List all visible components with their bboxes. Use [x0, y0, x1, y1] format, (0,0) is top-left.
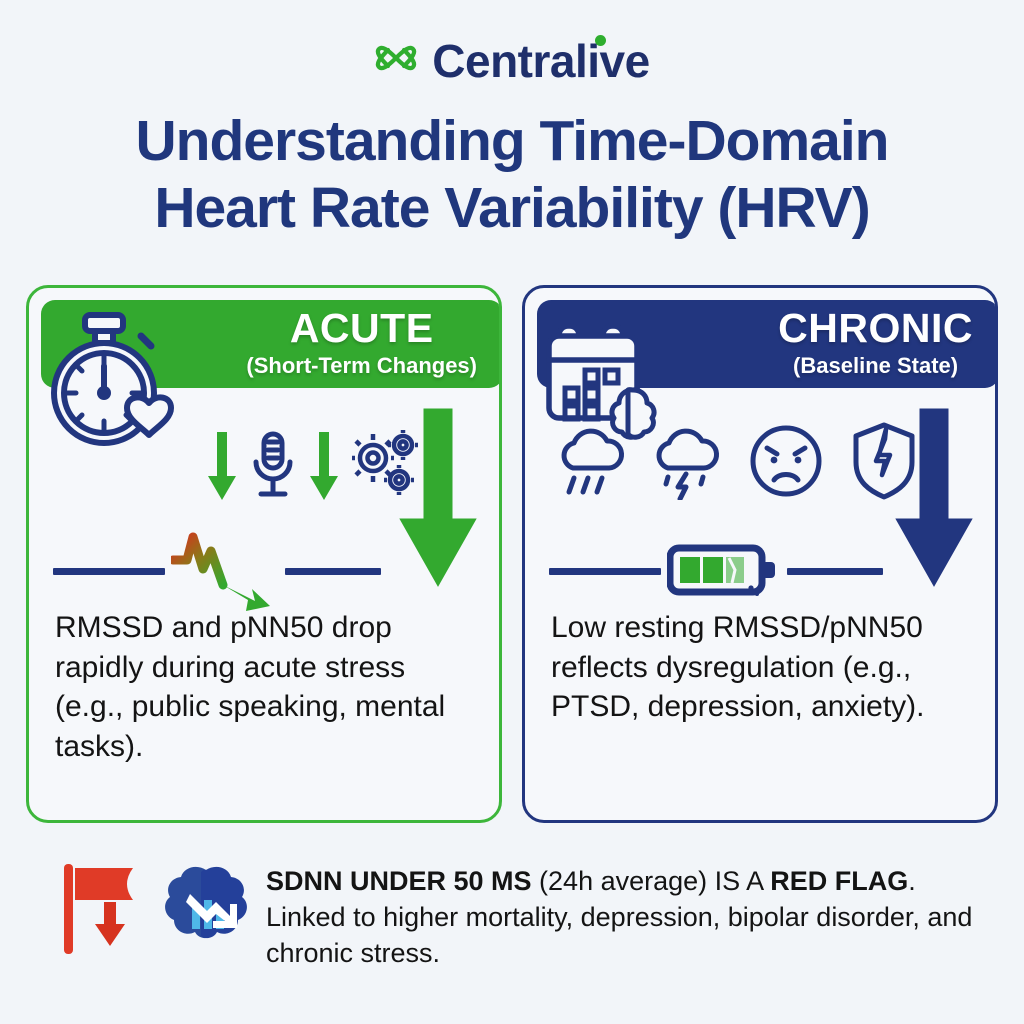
panel-acute-divider-row	[53, 536, 433, 606]
footer-bold-2: RED FLAG	[770, 866, 908, 896]
divider-line-right	[285, 568, 381, 575]
interlocking-rings-icon	[374, 36, 418, 85]
page-title: Understanding Time-Domain Heart Rate Var…	[0, 108, 1024, 241]
large-down-arrow-navy-icon	[879, 406, 989, 611]
panel-acute-subheading: (Short-Term Changes)	[246, 352, 477, 380]
large-down-arrow-green-icon	[383, 406, 493, 611]
stopwatch-heart-icon	[45, 310, 179, 455]
brand-name: Centralive	[432, 38, 649, 84]
brain-declining-chart-icon	[160, 864, 252, 961]
divider-line-left	[549, 568, 661, 575]
logo-accent-dot	[595, 35, 606, 46]
microphone-icon	[247, 428, 299, 509]
panel-acute-heading: ACUTE	[246, 308, 477, 349]
panel-chronic-divider-row	[549, 536, 929, 606]
ecg-declining-line-icon	[171, 527, 279, 616]
footer-warning: SDNN UNDER 50 MS (24h average) IS A RED …	[60, 858, 976, 972]
footer-bold-1: SDNN UNDER 50 MS	[266, 866, 532, 896]
draining-battery-icon	[667, 538, 781, 605]
divider-line-right	[787, 568, 883, 575]
worried-face-icon	[747, 422, 825, 505]
panel-chronic: CHRONIC (Baseline State)	[522, 285, 998, 823]
title-line-1: Understanding Time-Domain	[28, 108, 996, 175]
brand-logo: Centralive	[0, 36, 1024, 85]
down-arrow-icon	[205, 430, 239, 507]
panel-chronic-subheading: (Baseline State)	[778, 352, 973, 380]
panel-acute-body: RMSSD and pNN50 drop rapidly during acut…	[55, 608, 479, 766]
panel-chronic-body: Low resting RMSSD/pNN50 reflects dysregu…	[551, 608, 975, 727]
down-arrow-icon	[307, 430, 341, 507]
calendar-brain-icon	[541, 310, 681, 455]
title-line-2: Heart Rate Variability (HRV)	[28, 175, 996, 242]
footer-text: SDNN UNDER 50 MS (24h average) IS A RED …	[266, 858, 976, 972]
red-flag-down-arrow-icon	[60, 862, 146, 963]
divider-line-left	[53, 568, 165, 575]
footer-normal-1: (24h average) IS A	[532, 866, 771, 896]
comparison-panels: ACUTE (Short-Term Changes)	[26, 285, 998, 823]
panel-acute: ACUTE (Short-Term Changes)	[26, 285, 502, 823]
panel-chronic-heading: CHRONIC	[778, 308, 973, 349]
footer-icon-group	[60, 858, 252, 963]
